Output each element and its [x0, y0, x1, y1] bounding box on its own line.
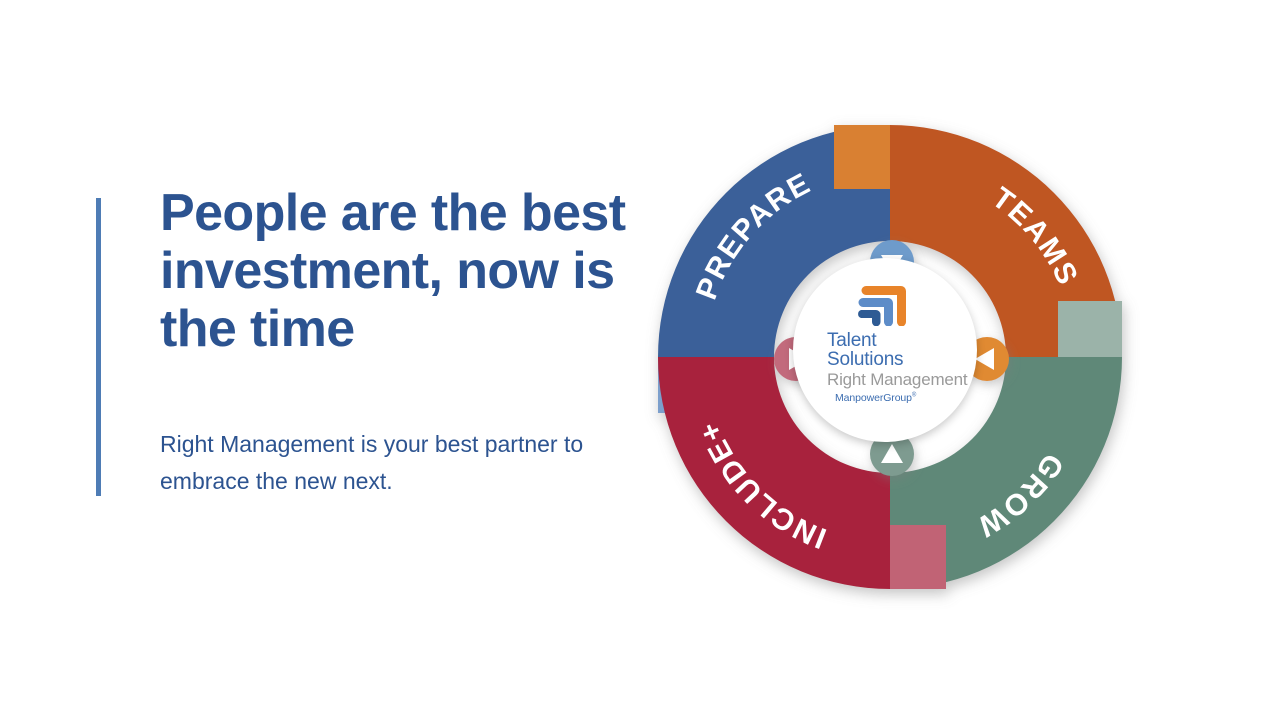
logo-line-manpowergroup: ManpowerGroup® [835, 392, 916, 404]
page-subtitle: Right Management is your best partner to… [160, 426, 590, 501]
manpowergroup-text: ManpowerGroup [835, 392, 912, 404]
logo-line-talent: Talent [827, 331, 877, 350]
logo-line-solutions: Solutions [827, 350, 903, 369]
slide-canvas: People are the best investment, now is t… [0, 0, 1280, 720]
segment-grow-tail [1058, 301, 1122, 357]
segment-teams-tail [834, 125, 890, 189]
accent-bar [96, 198, 101, 496]
registered-mark: ® [912, 392, 916, 398]
logo-line-right-management: Right Management [827, 370, 967, 389]
text-panel: People are the best investment, now is t… [96, 198, 636, 498]
center-logo-card: Talent Solutions Right Management Manpow… [793, 258, 977, 442]
segment-include-tail [890, 525, 946, 589]
talent-solutions-chevron-mark-icon [857, 282, 913, 326]
page-title: People are the best investment, now is t… [160, 184, 630, 359]
